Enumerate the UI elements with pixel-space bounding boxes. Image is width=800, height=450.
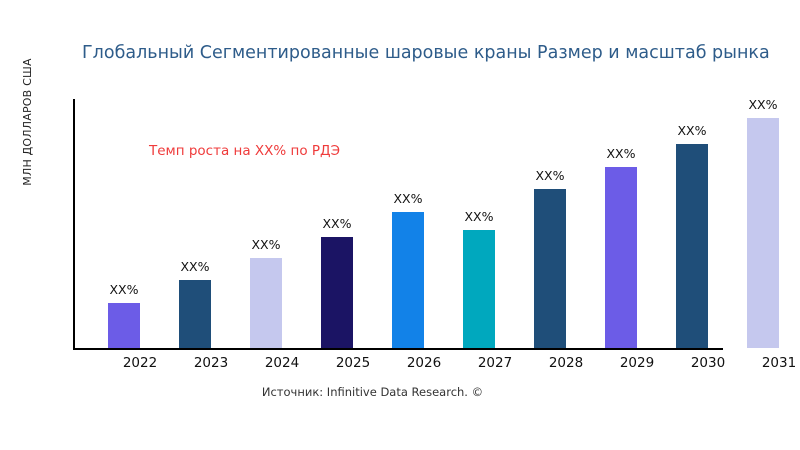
- bar-2029[interactable]: [605, 167, 637, 348]
- bar-value-label-2027: XX%: [437, 209, 521, 224]
- bar-2026[interactable]: [392, 212, 424, 348]
- xtick-2027: 2027: [455, 355, 535, 371]
- bar-2031[interactable]: [747, 118, 779, 348]
- bar-2030[interactable]: [676, 144, 708, 348]
- xtick-2031: 2031: [739, 355, 800, 371]
- bar-2022[interactable]: [108, 303, 140, 348]
- bar-value-label-2026: XX%: [366, 191, 450, 206]
- chart-title: Глобальный Сегментированные шаровые кран…: [82, 40, 800, 66]
- bar-2023[interactable]: [179, 280, 211, 348]
- source-note: Источник: Infinitive Data Research. ©: [0, 385, 745, 399]
- plot-area: XX% XX% XX% XX% XX% XX% XX% XX%: [73, 99, 723, 349]
- bar-value-label-2029: XX%: [579, 146, 663, 161]
- bar-2028[interactable]: [534, 189, 566, 348]
- xtick-2029: 2029: [597, 355, 677, 371]
- bar-value-label-2028: XX%: [508, 168, 592, 183]
- xtick-2030: 2030: [668, 355, 748, 371]
- bar-value-label-2031: XX%: [721, 97, 800, 112]
- y-axis-label: МЛН ДОЛЛАРОВ США: [18, 32, 38, 212]
- bar-value-label-2023: XX%: [153, 259, 237, 274]
- xtick-2025: 2025: [313, 355, 393, 371]
- bar-value-label-2024: XX%: [224, 237, 308, 252]
- xtick-2026: 2026: [384, 355, 464, 371]
- bar-value-label-2022: XX%: [82, 282, 166, 297]
- xtick-2024: 2024: [242, 355, 322, 371]
- x-axis-tick-labels: 2022 2023 2024 2025 2026 2027 2028 2029 …: [73, 355, 800, 375]
- bar-2027[interactable]: [463, 230, 495, 348]
- y-axis-line: [73, 99, 75, 349]
- bar-value-label-2030: XX%: [650, 123, 734, 138]
- xtick-2028: 2028: [526, 355, 606, 371]
- x-axis-line: [73, 348, 723, 350]
- xtick-2022: 2022: [100, 355, 180, 371]
- chart-figure: Глобальный Сегментированные шаровые кран…: [0, 0, 800, 450]
- xtick-2023: 2023: [171, 355, 251, 371]
- bar-2024[interactable]: [250, 258, 282, 348]
- growth-rate-annotation: Темп роста на XX% по РДЭ: [149, 143, 340, 159]
- bar-value-label-2025: XX%: [295, 216, 379, 231]
- bar-2025[interactable]: [321, 237, 353, 348]
